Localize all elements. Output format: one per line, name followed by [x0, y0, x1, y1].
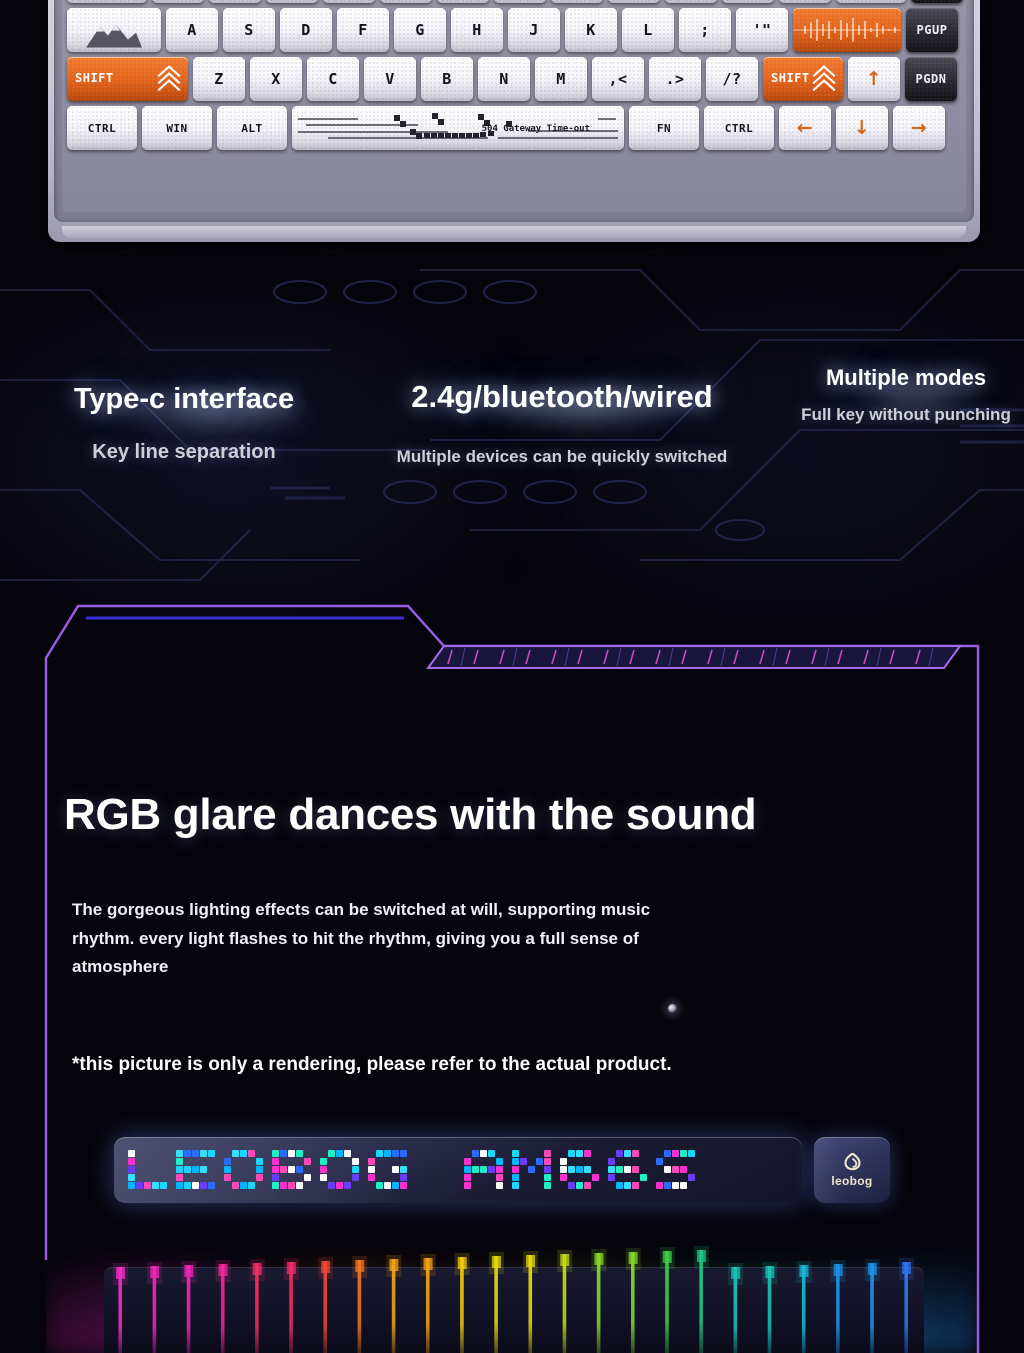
keycap-d[interactable]: D — [280, 8, 332, 52]
keycap-g[interactable]: G — [394, 8, 446, 52]
keycap-shift[interactable]: SHIFT — [763, 57, 843, 101]
keycap-r[interactable]: R — [323, 0, 375, 3]
feature-row: Type-c interface Key line separation 2.4… — [0, 362, 1024, 502]
feature-subtitle: Key line separation — [28, 440, 340, 465]
keycap-label: G — [415, 21, 425, 39]
keycap-o[interactable]: O — [608, 0, 660, 3]
keycap-label: L — [643, 21, 653, 39]
feature-type-c-interface: Type-c interface Key line separation — [28, 384, 340, 465]
keycap-del[interactable]: DEL — [911, 0, 963, 3]
keycap-novelty[interactable]: \| — [836, 0, 906, 3]
keyboard-plate: TABQWERTYUIOP[{]}\|DELASDFGHJKL;'"PGUPSH… — [62, 0, 966, 212]
leobog-leaf-icon — [844, 1153, 861, 1172]
rgb-keyboard-scene: leobog — [46, 1133, 978, 1353]
keycap-label: CTRL — [88, 122, 117, 135]
feature-title: Type-c interface — [28, 384, 340, 416]
keycap-label: → — [911, 117, 927, 139]
keycap-alt[interactable]: ALT — [217, 106, 287, 150]
keycap-w[interactable]: W — [209, 0, 261, 3]
keycap-label: N — [499, 70, 509, 88]
keycap-label: H — [472, 21, 482, 39]
keycap-z[interactable]: Z — [193, 57, 245, 101]
keycap-u[interactable]: U — [494, 0, 546, 3]
keycap-novelty[interactable]: 504 Gateway Time-out — [292, 106, 624, 150]
keycap-novelty[interactable]: ↓ — [836, 106, 888, 150]
keycap-k[interactable]: K — [565, 8, 617, 52]
keycap-fn[interactable]: FN — [629, 106, 699, 150]
keycap-x[interactable]: X — [250, 57, 302, 101]
keycap-n[interactable]: N — [478, 57, 530, 101]
keycap-novelty[interactable]: ]} — [779, 0, 831, 3]
brand-name: leobog — [831, 1174, 872, 1188]
rgb-section: RGB glare dances with the sound The gorg… — [0, 560, 1024, 1353]
feature-multiple-modes: Multiple modes Full key without punching — [800, 366, 1012, 425]
keycap-label: /? — [722, 70, 741, 88]
keycap-t[interactable]: T — [380, 0, 432, 3]
keycap-row: TABQWERTYUIOP[{]}\|DEL — [67, 0, 961, 3]
keycap-novelty[interactable]: ↑ — [848, 57, 900, 101]
keycap-v[interactable]: V — [364, 57, 416, 101]
keycap-novelty[interactable]: → — [893, 106, 945, 150]
keycap-pgup[interactable]: PGUP — [906, 8, 958, 52]
keycap-label: SHIFT — [771, 71, 810, 85]
keycap-label: Z — [214, 70, 224, 88]
keycap-label: ↑ — [866, 68, 882, 90]
keyboard-hero-image: TABQWERTYUIOP[{]}\|DELASDFGHJKL;'"PGUPSH… — [0, 0, 1024, 250]
keycap-shift[interactable]: SHIFT — [67, 57, 188, 101]
feature-title: 2.4g/bluetooth/wired — [352, 380, 772, 414]
keycap-q[interactable]: Q — [152, 0, 204, 3]
keycap-label: J — [529, 21, 539, 39]
feature-subtitle: Full key without punching — [800, 404, 1012, 425]
keycap-pgdn[interactable]: PGDN — [905, 57, 957, 101]
keycap-label: M — [556, 70, 566, 88]
keycap-novelty[interactable] — [793, 8, 901, 52]
keycap-novelty[interactable]: ← — [779, 106, 831, 150]
led-pixel-text — [128, 1146, 704, 1194]
keycap-novelty[interactable]: ,< — [592, 57, 644, 101]
keycap-label: S — [244, 21, 254, 39]
keycap-label: .> — [665, 70, 684, 88]
keyboard-case: TABQWERTYUIOP[{]}\|DELASDFGHJKL;'"PGUPSH… — [48, 0, 980, 242]
keycap-a[interactable]: A — [166, 8, 218, 52]
keycap-l[interactable]: L — [622, 8, 674, 52]
keycap-label: CTRL — [725, 122, 754, 135]
keycap-label: ALT — [241, 122, 262, 135]
rgb-heading: RGB glare dances with the sound — [64, 790, 944, 840]
keycap-label: SHIFT — [75, 71, 114, 85]
spacebar-legend: 504 Gateway Time-out — [482, 124, 590, 134]
keycap-b[interactable]: B — [421, 57, 473, 101]
keycap-p[interactable]: P — [665, 0, 717, 3]
keycap-label: X — [271, 70, 281, 88]
keycap-tab[interactable]: TAB — [67, 0, 147, 3]
rgb-disclaimer: *this picture is only a rendering, pleas… — [72, 1054, 952, 1076]
keycap-label: V — [385, 70, 395, 88]
keycap-h[interactable]: H — [451, 8, 503, 52]
waveform-art-icon — [793, 17, 901, 43]
keycap-novelty[interactable]: '" — [736, 8, 788, 52]
keycap-label: C — [328, 70, 338, 88]
feature-title: Multiple modes — [800, 366, 1012, 390]
keycap-win[interactable]: WIN — [142, 106, 212, 150]
keycap-label: ← — [797, 117, 813, 139]
keycap-label: B — [442, 70, 452, 88]
keycap-row: CTRLWINALT504 Gateway Time-outFNCTRL←↓→ — [67, 106, 961, 150]
keycap-row: ASDFGHJKL;'"PGUP — [67, 8, 961, 52]
chevron-tree-art-icon — [811, 65, 837, 95]
keycap-label: ; — [700, 21, 710, 39]
led-pixel-display — [114, 1137, 802, 1203]
keycap-label: K — [586, 21, 596, 39]
keycap-e[interactable]: E — [266, 0, 318, 3]
mountain-art-icon — [86, 21, 142, 47]
keycap-novelty[interactable]: /? — [706, 57, 758, 101]
keycap-row: SHIFTZXCVBNM,<.>/?SHIFT↑PGDN — [67, 57, 961, 101]
keycap-ctrl[interactable]: CTRL — [67, 106, 137, 150]
keycap-m[interactable]: M — [535, 57, 587, 101]
keycap-grid: TABQWERTYUIOP[{]}\|DELASDFGHJKL;'"PGUPSH… — [67, 0, 961, 150]
keycap-label: A — [187, 21, 197, 39]
keycap-label: D — [301, 21, 311, 39]
feature-connectivity: 2.4g/bluetooth/wired Multiple devices ca… — [352, 380, 772, 467]
rgb-body-text: The gorgeous lighting effects can be swi… — [72, 896, 712, 982]
keycap-y[interactable]: Y — [437, 0, 489, 3]
keycap-novelty[interactable]: .> — [649, 57, 701, 101]
keycap-j[interactable]: J — [508, 8, 560, 52]
keycap-novelty[interactable]: [{ — [722, 0, 774, 3]
keycap-label: WIN — [166, 122, 187, 135]
brand-badge: leobog — [814, 1137, 890, 1203]
keycap-label: F — [358, 21, 368, 39]
keycap-label: '" — [752, 21, 771, 39]
keycap-c[interactable]: C — [307, 57, 359, 101]
keycap-label: FN — [657, 122, 671, 135]
keycap-i[interactable]: I — [551, 0, 603, 3]
rgb-light-bars — [106, 1223, 926, 1353]
keycap-label: ,< — [608, 70, 627, 88]
keycap-s[interactable]: S — [223, 8, 275, 52]
keycap-ctrl[interactable]: CTRL — [704, 106, 774, 150]
keycap-f[interactable]: F — [337, 8, 389, 52]
keycap-novelty[interactable]: ; — [679, 8, 731, 52]
light-particle-icon — [668, 1004, 677, 1013]
feature-subtitle: Multiple devices can be quickly switched — [352, 446, 772, 467]
keycap-label: ↓ — [854, 117, 870, 139]
chevron-tree-art-icon — [156, 65, 182, 95]
keycap-label: PGDN — [916, 72, 947, 86]
keycap-label: PGUP — [917, 23, 948, 37]
rgb-content-area: RGB glare dances with the sound The gorg… — [46, 608, 978, 1353]
keycap-novelty[interactable] — [67, 8, 161, 52]
